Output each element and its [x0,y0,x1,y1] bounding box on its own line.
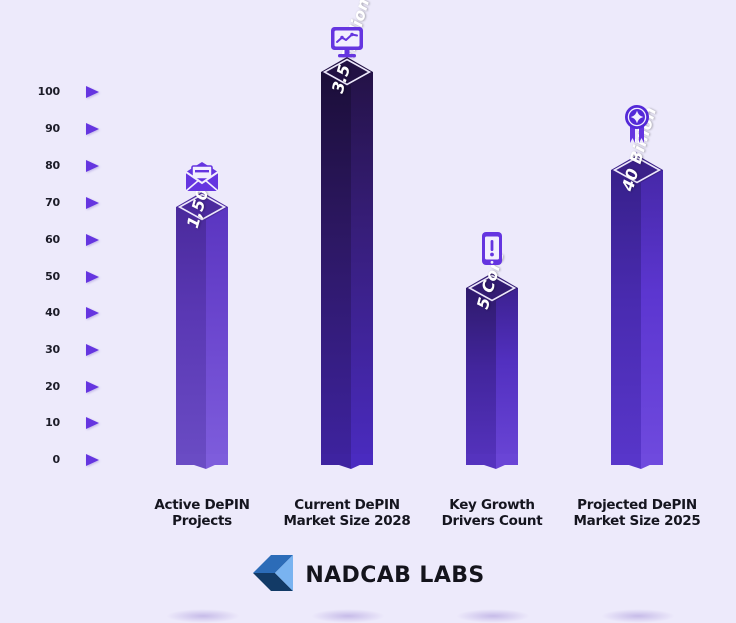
nadcab-chevron-logo-icon [251,553,295,598]
bar-3[interactable]: 5 Core [466,288,518,465]
infographic-chart-canvas: 100 90 80 70 60 50 40 30 [0,0,736,616]
bar-4[interactable]: 40 Billion [611,170,663,465]
bar-front-face [176,207,206,465]
bar-group[interactable]: 40 Billion Projected DePIN Market Size 2… [561,0,713,616]
category-label-line1: Current DePIN [271,497,423,513]
bar-group[interactable]: 5 Core Key Growth Drivers Count [416,0,568,616]
category-label-line1: Projected DePIN [561,497,713,513]
y-axis-tick: 70 [0,194,120,212]
category-label-line2: Drivers Count [416,513,568,529]
category-label-line1: Key Growth [416,497,568,513]
triangle-marker-icon [86,271,99,283]
mail-envelope-icon [176,156,228,200]
bar-front-face [466,288,496,465]
y-axis-tick: 80 [0,157,120,175]
category-label-2: Current DePIN Market Size 2028 [271,497,423,529]
bar-group[interactable]: 1,500 Active DePIN Projects [126,0,278,616]
bar-shadow [311,609,385,623]
bar-1[interactable]: 1,500 [176,207,228,465]
triangle-marker-icon [86,234,99,246]
brand-name: NADCAB LABS [305,563,484,588]
y-axis-tick: 90 [0,120,120,138]
triangle-marker-icon [86,197,99,209]
y-axis: 100 90 80 70 60 50 40 30 [0,0,130,616]
y-axis-tick-label: 60 [0,231,60,249]
bar-bottom-face [321,454,373,476]
triangle-marker-icon [86,344,99,356]
bar-bottom-face [176,454,228,476]
bar-bottom-face [611,454,663,476]
category-label-line2: Market Size 2028 [271,513,423,529]
triangle-marker-icon [86,123,99,135]
y-axis-tick-label: 30 [0,341,60,359]
y-axis-tick-label: 80 [0,157,60,175]
plot-area: 1,500 Active DePIN Projects [130,0,736,616]
triangle-marker-icon [86,160,99,172]
bar-side-face [496,288,518,465]
bar-2[interactable]: 3.5 Trillion [321,72,373,465]
bar-side-face [641,170,663,465]
y-axis-tick-label: 90 [0,120,60,138]
bar-shadow [601,609,675,623]
y-axis-tick: 60 [0,231,120,249]
triangle-marker-icon [86,381,99,393]
bar-shadow [456,609,530,623]
category-label-1: Active DePIN Projects [126,497,278,529]
y-axis-tick: 10 [0,414,120,432]
triangle-marker-icon [86,307,99,319]
category-label-line1: Active DePIN [126,497,278,513]
bar-front-face [611,170,641,465]
y-axis-tick: 20 [0,378,120,396]
bar-side-face [351,72,373,465]
award-medal-icon [611,104,663,148]
category-label-4: Projected DePIN Market Size 2025 [561,497,713,529]
y-axis-tick-label: 50 [0,268,60,286]
triangle-marker-icon [86,454,99,466]
y-axis-tick-label: 10 [0,414,60,432]
triangle-marker-icon [86,86,99,98]
category-label-3: Key Growth Drivers Count [416,497,568,529]
monitor-chart-icon [321,20,373,64]
y-axis-tick: 40 [0,304,120,322]
y-axis-tick-label: 20 [0,378,60,396]
category-label-line2: Market Size 2025 [561,513,713,529]
bar-front-face [321,72,351,465]
brand-footer: NADCAB LABS [0,553,736,598]
y-axis-tick-label: 100 [0,83,60,101]
bar-group[interactable]: 3.5 Trillion Current DePIN Market Size 2… [271,0,423,616]
y-axis-tick-label: 70 [0,194,60,212]
bar-bottom-face [466,454,518,476]
y-axis-tick: 50 [0,268,120,286]
y-axis-tick-label: 40 [0,304,60,322]
y-axis-tick: 100 [0,83,120,101]
y-axis-tick: 30 [0,341,120,359]
y-axis-tick: 0 [0,451,120,469]
bar-shadow [166,609,240,623]
triangle-marker-icon [86,417,99,429]
y-axis-tick-label: 0 [0,451,60,469]
mobile-alert-icon [466,228,518,272]
category-label-line2: Projects [126,513,278,529]
bar-side-face [206,207,228,465]
